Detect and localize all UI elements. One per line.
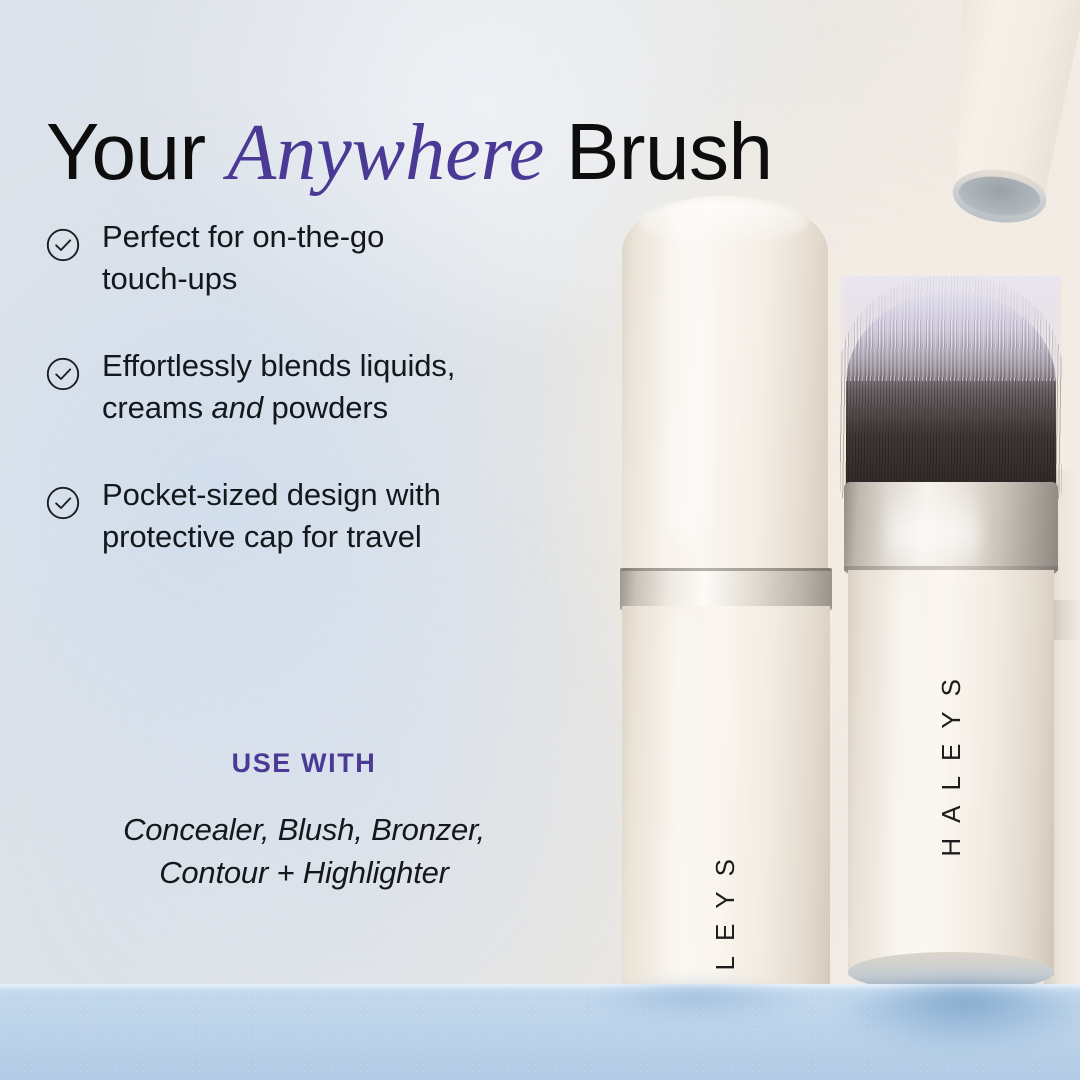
headline-accent-word: Anywhere — [227, 109, 544, 197]
check-circle-icon — [46, 228, 80, 262]
use-with-items: Concealer, Blush, Bronzer,Contour + High… — [46, 809, 562, 895]
tube-body-gloss — [654, 612, 708, 992]
list-item-line1: Pocket-sized design with — [102, 477, 441, 512]
list-item-label: Perfect for on-the-gotouch-ups — [102, 216, 384, 299]
product-surface-ledge — [0, 984, 1080, 1080]
tube-contact-shadow — [592, 984, 802, 1018]
headline-before: Your — [46, 107, 227, 196]
use-with-label: USE WITH — [46, 748, 562, 779]
list-item-line2: protective cap for travel — [102, 519, 422, 554]
list-item: Pocket-sized design withprotective cap f… — [46, 474, 606, 557]
list-item-line1: Effortlessly blends liquids, — [102, 348, 455, 383]
list-item-line2-pre: creams — [102, 390, 212, 425]
bristle-tip-fade — [840, 276, 1062, 390]
use-with-section: USE WITH Concealer, Blush, Bronzer,Conto… — [46, 748, 562, 895]
page-title: Your Anywhere Brush — [46, 110, 773, 195]
tube-cap-gloss — [658, 212, 718, 542]
tube-cap — [622, 196, 828, 588]
list-item-label: Effortlessly blends liquids,creams and p… — [102, 345, 455, 428]
list-item-emphasis: and — [212, 390, 263, 425]
list-item-label: Pocket-sized design withprotective cap f… — [102, 474, 441, 557]
use-with-line2: Contour + Highlighter — [159, 855, 449, 890]
check-circle-icon — [46, 357, 80, 391]
brush-contact-shadow — [840, 986, 1080, 1050]
brush-ferrule-highlight — [888, 490, 980, 568]
list-item-line1: Perfect for on-the-go — [102, 219, 384, 254]
product-cap-top-right — [922, 0, 1080, 206]
feature-list: Perfect for on-the-gotouch-ups Effortles… — [46, 216, 606, 603]
list-item-line2-post: powders — [263, 390, 388, 425]
tube-ring-edge-top — [620, 568, 832, 571]
brush-handle-gloss — [880, 576, 932, 972]
product-brush: HALEYS — [836, 276, 1066, 1000]
product-tube-capped: HALEYS — [614, 196, 836, 996]
brush-bristles — [840, 276, 1062, 504]
check-circle-icon — [46, 486, 80, 520]
product-marketing-image: HALEYS HALEYS Your Anywhere Brush — [0, 0, 1080, 1080]
list-item-line2: touch-ups — [102, 261, 237, 296]
use-with-line1: Concealer, Blush, Bronzer, — [123, 812, 485, 847]
list-item: Perfect for on-the-gotouch-ups — [46, 216, 606, 299]
brand-logo-brush: HALEYS — [936, 664, 967, 857]
headline-after: Brush — [544, 107, 772, 196]
tube-silver-ring — [620, 568, 832, 610]
list-item: Effortlessly blends liquids,creams and p… — [46, 345, 606, 428]
